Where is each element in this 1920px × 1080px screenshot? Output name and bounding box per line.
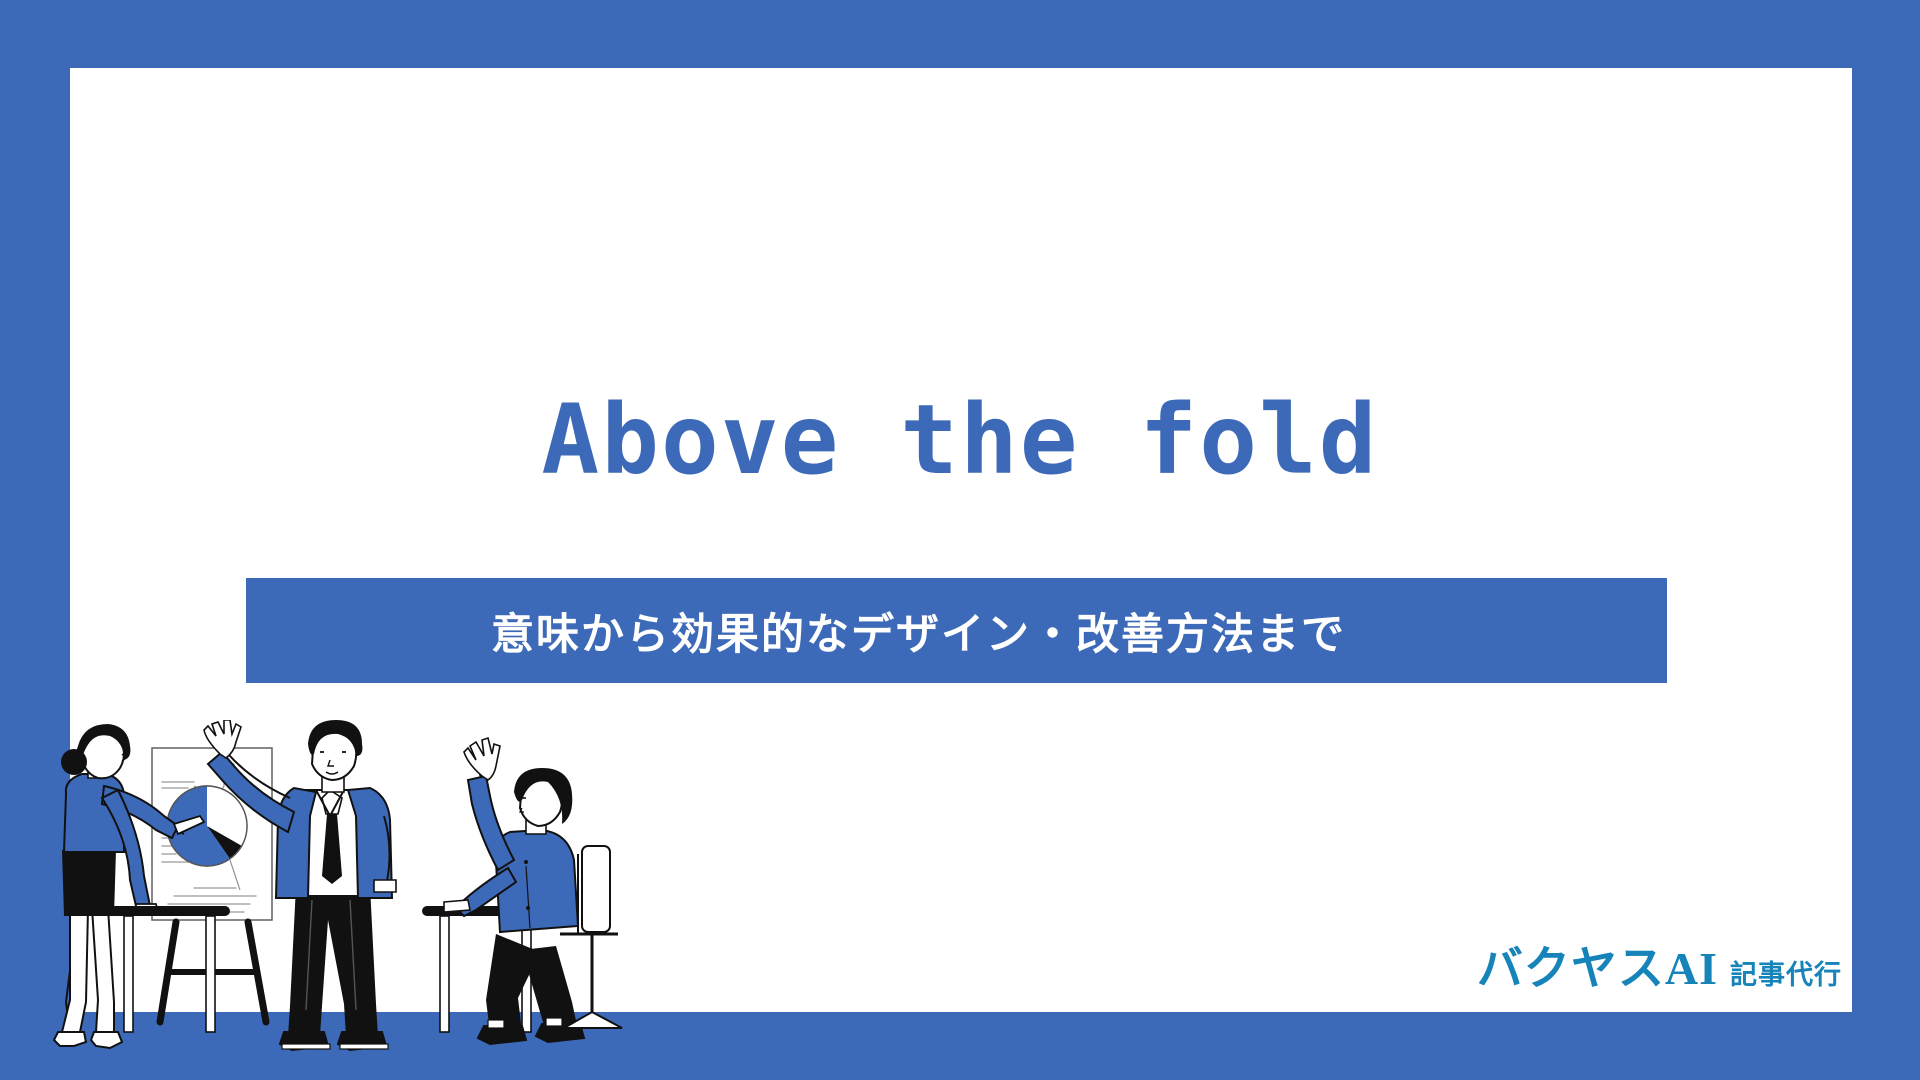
figure-seated-person — [444, 738, 622, 1044]
logo-brand-text: バクヤスAI — [1477, 932, 1718, 998]
page-title: Above the fold — [0, 390, 1920, 491]
subtitle-band: 意味から効果的なデザイン・改善方法まで — [246, 578, 1667, 683]
slide-canvas: Above the fold 意味から効果的なデザイン・改善方法まで — [0, 0, 1920, 1080]
illustration-business-team — [44, 720, 724, 1080]
logo-service-text: 記事代行 — [1730, 953, 1842, 992]
subtitle-text: 意味から効果的なデザイン・改善方法まで — [491, 600, 1346, 662]
brand-logo: バクヤスAI 記事代行 — [1477, 932, 1842, 998]
